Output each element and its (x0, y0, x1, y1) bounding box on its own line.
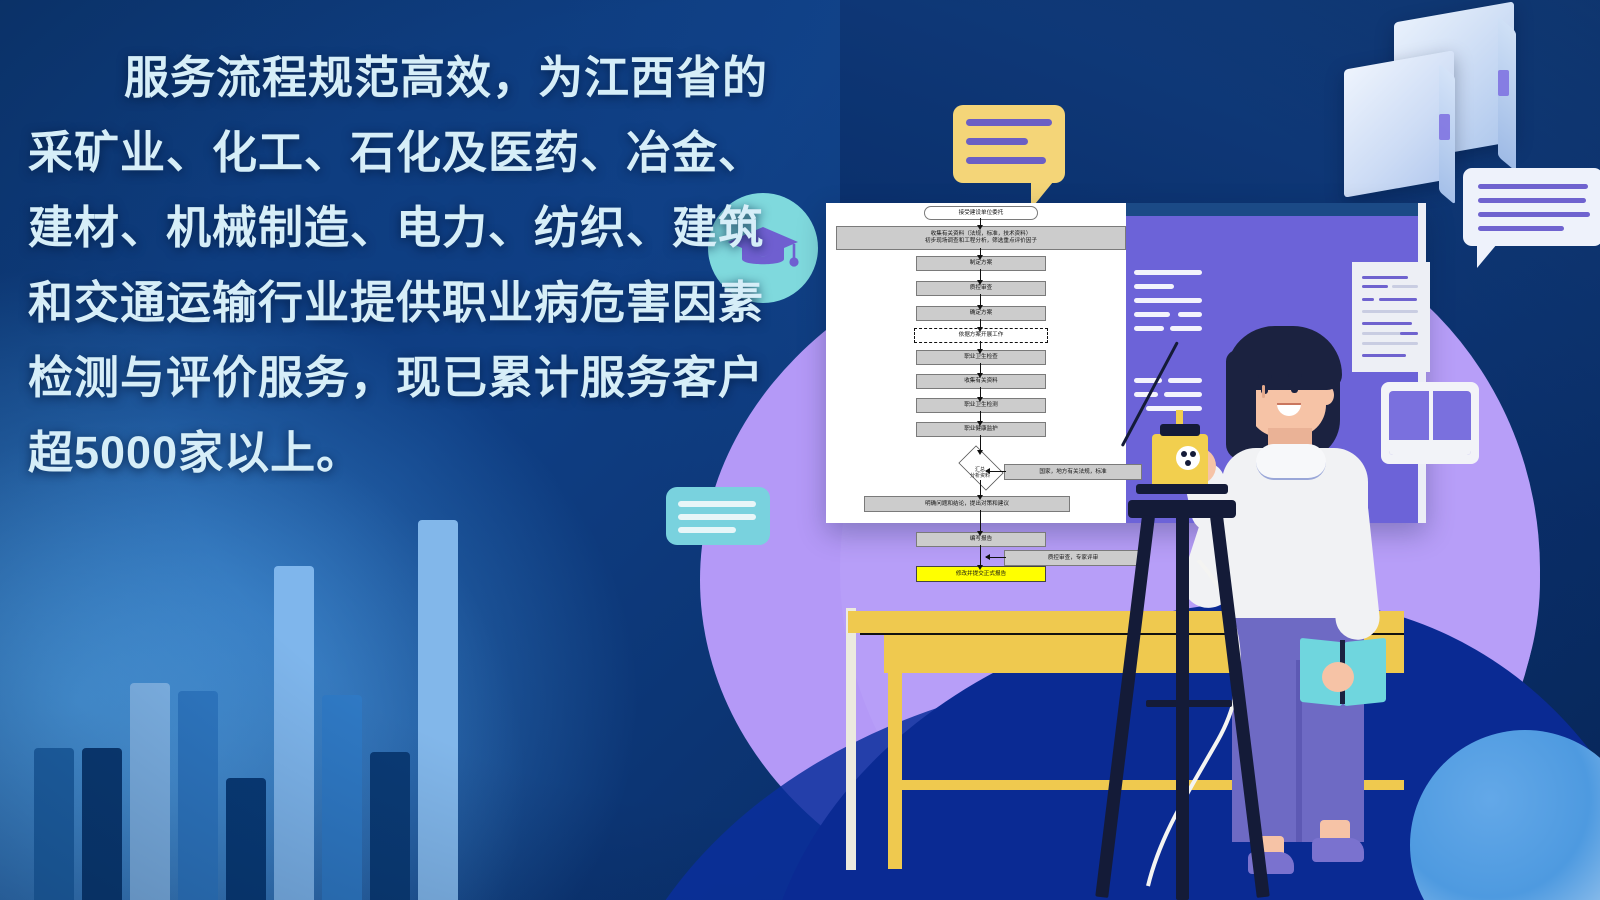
avatar-eyebrow-left (1258, 375, 1272, 378)
flowchart-arrow (980, 363, 981, 374)
speech-bubble-icon-white (1463, 168, 1600, 246)
board-text-line (1146, 406, 1202, 411)
book-bookmark-2 (1439, 114, 1450, 140)
desk-leg (888, 673, 902, 869)
board-text-line (1134, 326, 1164, 331)
instrument-top-bar (1160, 424, 1200, 436)
flowchart-arrow (980, 294, 981, 306)
flowchart: 接受建设单位委托收集有关资料（法规，标准，技术资料） 初步现场调查和工程分析，筛… (836, 206, 1124, 588)
avatar-hand-right (1322, 662, 1354, 692)
avatar-shoe-2 (1312, 838, 1364, 862)
board-text-line (1170, 326, 1202, 331)
book-front (1344, 50, 1454, 197)
flowchart-arrow (980, 341, 981, 350)
document-icon (1352, 262, 1430, 372)
board-text-line (1134, 298, 1202, 303)
flowchart-side-note: 国家，地方有关法规，标准 (1004, 464, 1142, 480)
flowchart-arrow (980, 435, 981, 451)
board-text-line (1168, 378, 1202, 383)
purple-board-top-rail (1126, 203, 1426, 216)
flowchart-arrow (980, 545, 981, 566)
avatar-collar (1256, 444, 1326, 480)
flowchart-side-connector (986, 471, 1006, 472)
page-title: 服务流程规范高效，为江西省的采矿业、化工、石化及医药、冶金、建材、机械制造、电力… (28, 40, 768, 490)
instrument-dial-dot (1181, 451, 1187, 457)
poster-canvas: 接受建设单位委托收集有关资料（法规，标准，技术资料） 初步现场调查和工程分析，筛… (0, 0, 1600, 900)
tripod-collar (1136, 484, 1228, 494)
tripod-crossbar (1146, 700, 1232, 707)
instrument-dial-dot (1190, 451, 1196, 457)
flowchart-arrow (980, 510, 981, 532)
instrument-dial-dot (1185, 460, 1191, 466)
open-book-icon (1381, 382, 1479, 464)
board-text-line (1178, 312, 1202, 317)
board-text-line (1134, 312, 1170, 317)
flowchart-arrow (980, 480, 981, 496)
speech-bubble-icon-teal (666, 487, 770, 545)
flowchart-side-connector (986, 557, 1006, 558)
flowchart-node: 明确问题和结论，提出对策和建议 (864, 496, 1070, 512)
avatar-eye-right (1291, 382, 1298, 393)
flowchart-arrow (980, 218, 981, 226)
flowchart-arrow (980, 319, 981, 328)
flowchart-arrow (980, 411, 981, 422)
body-paragraph: 服务流程规范高效，为江西省的采矿业、化工、石化及医药、冶金、建材、机械制造、电力… (28, 40, 768, 490)
board-text-line (1164, 392, 1202, 397)
flowchart-arrow (980, 269, 981, 281)
flowchart-arrow (980, 387, 981, 398)
book-bookmark (1498, 70, 1509, 96)
wall-strip (846, 608, 856, 870)
tripod-leg (1176, 516, 1189, 900)
avatar-nose (1262, 385, 1265, 398)
instrument-dial (1176, 446, 1200, 470)
book-stack-icon (1338, 8, 1538, 188)
board-text-line (1134, 284, 1174, 289)
flowchart-side-note: 质控审查，专家评审 (1004, 550, 1142, 566)
board-text-line (1134, 270, 1202, 275)
avatar-hair-side (1226, 350, 1256, 460)
speech-bubble-icon-yellow (953, 105, 1065, 183)
avatar-eyebrow-right (1288, 374, 1302, 377)
flowchart-arrow (980, 248, 981, 256)
